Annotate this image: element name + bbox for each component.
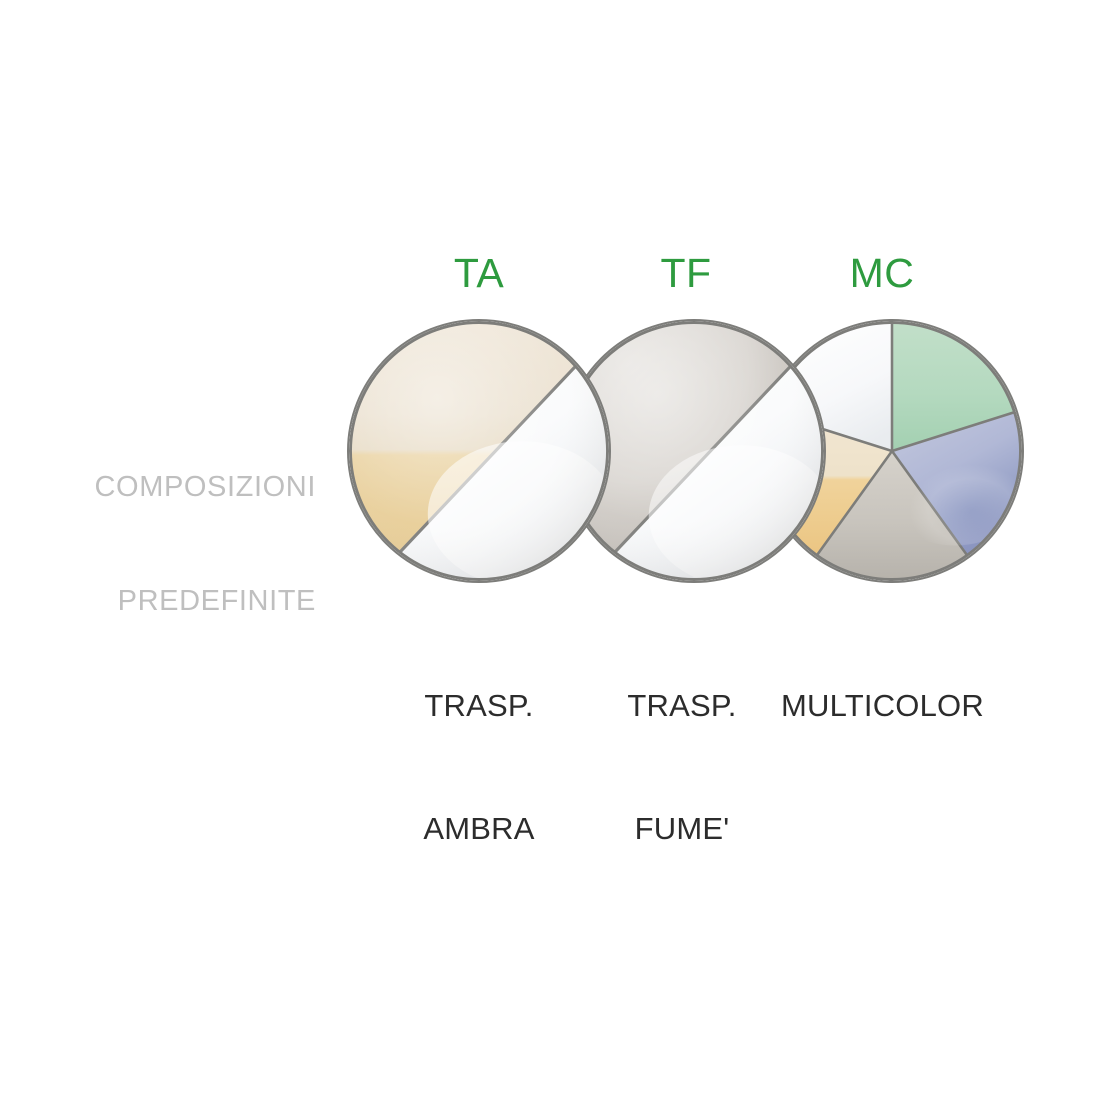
swatch-code-ta: TA: [389, 249, 569, 297]
swatch-label-tf-line-2: FUME': [572, 808, 792, 849]
side-caption-line-2: PREDEFINITE: [28, 582, 316, 620]
swatch-label-ta-line-2: AMBRA: [369, 808, 589, 849]
swatch-label-mc-line-1: MULTICOLOR: [750, 685, 1015, 726]
side-caption: COMPOSIZIONI PREDEFINITE: [28, 392, 316, 696]
swatch-label-ta: TRASP. AMBRA: [369, 603, 589, 931]
swatch-label-ta-line-1: TRASP.: [369, 685, 589, 726]
composizioni-predefinite-figure: COMPOSIZIONI PREDEFINITE TA TF MC: [0, 0, 1100, 1100]
swatch-label-mc: MULTICOLOR: [750, 603, 1015, 808]
swatch-code-mc: MC: [792, 249, 972, 297]
swatch-circle-ta[interactable]: [347, 319, 611, 583]
swatch-code-tf: TF: [596, 249, 776, 297]
side-caption-line-1: COMPOSIZIONI: [28, 468, 316, 506]
